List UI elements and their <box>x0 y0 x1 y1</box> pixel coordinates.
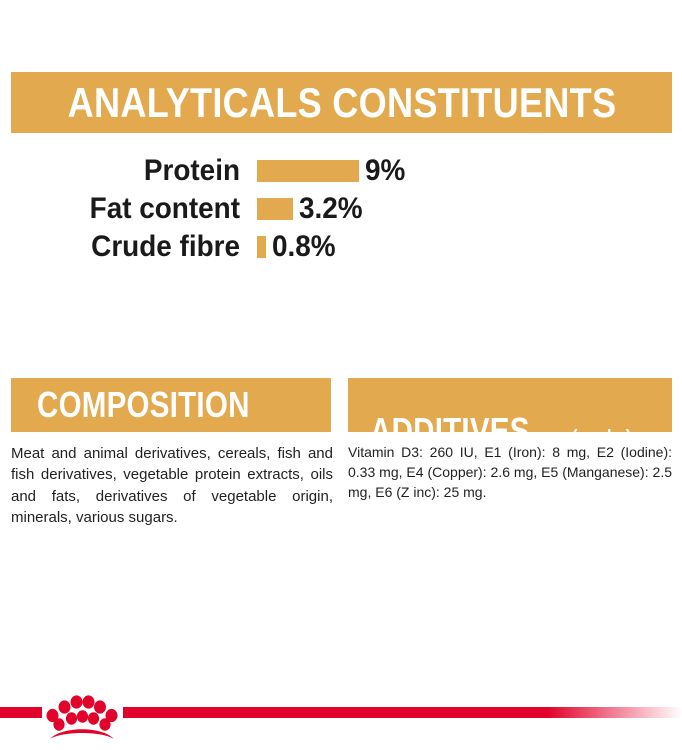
chart-bar-group-protein: 9% <box>257 156 408 186</box>
chart-value-crude-fibre: 0.8% <box>272 232 336 262</box>
chart-value-protein: 9% <box>365 156 405 186</box>
analytical-constituents-chart: Protein 9% Fat content 3.2% Crude fibre … <box>0 152 682 266</box>
composition-header-band: COMPOSITION <box>11 378 331 432</box>
nutrition-label-page: ANALYTICALS CONSTITUENTS Protein 9% Fat … <box>0 0 682 750</box>
composition-body-text: Meat and animal derivatives, cereals, fi… <box>11 443 333 528</box>
additives-header-band: ADDITIVES (per kg) <box>348 378 672 432</box>
footer-rule-right <box>123 707 682 718</box>
chart-bar-fat-content <box>257 198 293 220</box>
chart-label-crude-fibre: Crude fibre <box>17 232 240 262</box>
footer-brand-bar <box>0 694 682 750</box>
royal-canin-crown-icon <box>46 694 118 744</box>
chart-bar-crude-fibre <box>257 236 266 258</box>
chart-row-fat-content: Fat content 3.2% <box>0 190 682 228</box>
composition-heading: COMPOSITION <box>37 387 250 423</box>
chart-value-fat-content: 3.2% <box>299 194 363 224</box>
chart-bar-protein <box>257 160 359 182</box>
chart-row-crude-fibre: Crude fibre 0.8% <box>0 228 682 266</box>
chart-bar-group-fat-content: 3.2% <box>257 194 367 224</box>
chart-label-fat-content: Fat content <box>17 194 240 224</box>
chart-row-protein: Protein 9% <box>0 152 682 190</box>
chart-bar-group-crude-fibre: 0.8% <box>257 232 340 262</box>
analyticals-heading: ANALYTICALS CONSTITUENTS <box>67 82 616 124</box>
additives-body-text: Vitamin D3: 260 IU, E1 (Iron): 8 mg, E2 … <box>348 443 672 503</box>
analyticals-header-band: ANALYTICALS CONSTITUENTS <box>11 72 672 133</box>
footer-rule-left <box>0 707 42 718</box>
chart-label-protein: Protein <box>17 156 240 186</box>
